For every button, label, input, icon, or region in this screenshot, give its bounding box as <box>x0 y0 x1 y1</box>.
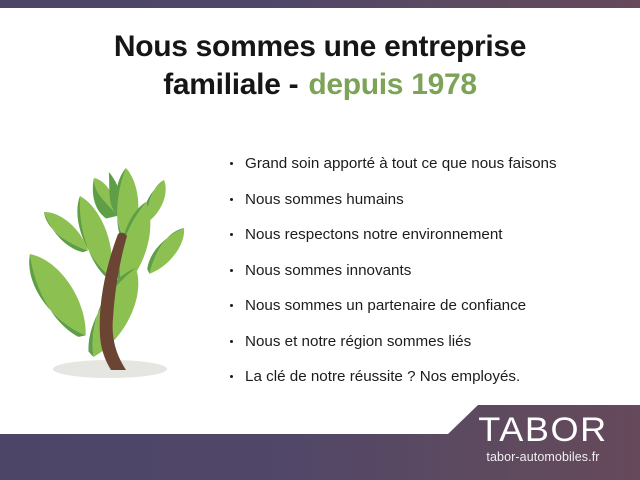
bullet-dot-icon <box>230 233 233 236</box>
list-item-label: Nous sommes un partenaire de confiance <box>245 297 526 314</box>
leaf-lower-left <box>20 244 95 346</box>
brand-tagline: tabor-automobiles.fr <box>458 450 628 465</box>
list-item: Nous sommes un partenaire de confiance <box>228 288 628 324</box>
page-title-line-2: familiale -depuis 1978 <box>28 66 612 104</box>
page-title-line-1: Nous sommes une entreprise <box>28 28 612 66</box>
footer-band: TABOR tabor-automobiles.fr <box>0 400 640 480</box>
bullet-dot-icon <box>230 304 233 307</box>
list-item-label: Nous sommes humains <box>245 191 404 208</box>
value-bullet-list: Grand soin apporté à tout ce que nous fa… <box>228 146 628 395</box>
list-item-label: Grand soin apporté à tout ce que nous fa… <box>245 155 557 172</box>
list-item-label: Nous sommes innovants <box>245 262 411 279</box>
list-item: Nous et notre région sommes liés <box>228 324 628 360</box>
page-title: Nous sommes une entreprise familiale -de… <box>28 28 612 104</box>
top-accent-bar <box>0 0 640 8</box>
tree-illustration-svg <box>14 150 220 388</box>
brand-wordmark: TABOR <box>453 412 633 448</box>
bullet-dot-icon <box>230 198 233 201</box>
list-item: Grand soin apporté à tout ce que nous fa… <box>228 146 628 182</box>
list-item: Nous sommes humains <box>228 182 628 218</box>
bullet-dot-icon <box>230 269 233 272</box>
bullet-dot-icon <box>230 162 233 165</box>
list-item-label: Nous respectons notre environnement <box>245 226 503 243</box>
page-title-line-2-text: familiale - <box>163 68 298 101</box>
list-item: La clé de notre réussite ? Nos employés. <box>228 359 628 395</box>
tree-illustration <box>14 150 220 388</box>
page-title-accent: depuis 1978 <box>308 68 476 101</box>
bullet-dot-icon <box>230 375 233 378</box>
brand-logo: TABOR tabor-automobiles.fr <box>458 412 628 465</box>
list-item: Nous sommes innovants <box>228 253 628 289</box>
bullet-dot-icon <box>230 340 233 343</box>
list-item-label: Nous et notre région sommes liés <box>245 333 471 350</box>
slide-canvas: Nous sommes une entreprise familiale -de… <box>0 0 640 480</box>
list-item: Nous respectons notre environnement <box>228 217 628 253</box>
list-item-label: La clé de notre réussite ? Nos employés. <box>245 368 520 385</box>
